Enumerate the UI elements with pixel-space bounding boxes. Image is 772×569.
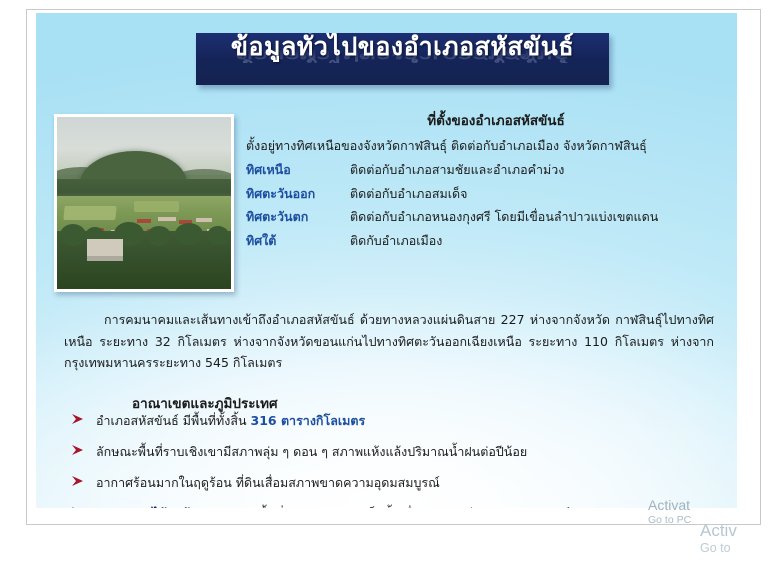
list-item-text: การเกษตรได้ผลน้อยแต่สำหรับพื้นที่รอบบริเ… [96, 506, 623, 508]
direction-label: ทิศตะวันออก [246, 186, 350, 203]
bullet-highlight: 316 ตารางกิโลเมตร [251, 413, 366, 428]
list-item-text: อำเภอสหัสขันธ์ มีพื้นที่ทั้งสิ้น 316 ตาร… [96, 413, 365, 430]
direction-value: ติดกับอำเภอเมือง [350, 233, 442, 250]
direction-label: ทิศเหนือ [246, 162, 350, 179]
direction-row: ทิศเหนือ ติดต่อกับอำเภอสามชัยและอำเภอคำม… [246, 162, 728, 179]
direction-label: ทิศใต้ [246, 233, 350, 250]
direction-value: ติดต่อกับอำเภอสามชัยและอำเภอคำม่วง [350, 162, 564, 179]
arrow-right-icon [64, 507, 96, 508]
direction-value: ติดต่อกับอำเภอหนองกุงศรี โดยมีเขื่อนลำปา… [350, 209, 658, 226]
page-title-reflection: ข้อมูลทั่วไปของอำเภอสหัสขันธ์ [196, 47, 609, 63]
direction-label: ทิศตะวันตก [246, 209, 350, 226]
photo-building [87, 239, 123, 261]
list-item-text: อากาศร้อนมากในฤดูร้อน ที่ดินเสื่อมสภาพขา… [96, 475, 440, 492]
landscape-photo [54, 114, 234, 292]
slide-title-banner: ข้อมูลทั่วไปของอำเภอสหัสขันธ์ ข้อมูลทั่ว… [196, 33, 609, 85]
activate-windows-watermark-secondary: Activ Go to [700, 521, 737, 556]
arrow-right-icon [64, 445, 96, 455]
arrow-right-icon [64, 414, 96, 424]
location-heading: ที่ตั้งของอำเภอสหัสขันธ์ [246, 113, 728, 131]
list-item: อำเภอสหัสขันธ์ มีพื้นที่ทั้งสิ้น 316 ตาร… [64, 413, 724, 430]
arrow-right-icon [64, 476, 96, 486]
list-item: อากาศร้อนมากในฤดูร้อน ที่ดินเสื่อมสภาพขา… [64, 475, 724, 492]
list-item-text: ลักษณะพื้นที่ราบเชิงเขามีสภาพลุ่ม ๆ ดอน … [96, 444, 527, 461]
presentation-slide: ข้อมูลทั่วไปของอำเภอสหัสขันธ์ ข้อมูลทั่ว… [36, 13, 737, 508]
list-item: การเกษตรได้ผลน้อยแต่สำหรับพื้นที่รอบบริเ… [64, 506, 724, 508]
transport-paragraph: การคมนาคมและเส้นทางเข้าถึงอำเภอสหัสขันธ์… [64, 309, 714, 374]
location-intro: ตั้งอยู่ทางทิศเหนือของจังหวัดกาฬสินธุ์ ต… [246, 137, 728, 155]
watermark-subtitle: Go to [700, 541, 737, 556]
document-page: ข้อมูลทั่วไปของอำเภอสหัสขันธ์ ข้อมูลทั่ว… [0, 0, 772, 569]
bullet-pre: อากาศร้อนมากในฤดูร้อน ที่ดินเสื่อมสภาพขา… [96, 475, 440, 490]
bullet-pre: ลักษณะพื้นที่ราบเชิงเขามีสภาพลุ่ม ๆ ดอน … [96, 444, 527, 459]
direction-row: ทิศตะวันออก ติดต่อกับอำเภอสมเด็จ [246, 186, 728, 203]
direction-row: ทิศใต้ ติดกับอำเภอเมือง [246, 233, 728, 250]
bullet-highlight: การเกษตรได้ผลน้อย [96, 506, 205, 508]
location-section: ที่ตั้งของอำเภอสหัสขันธ์ ตั้งอยู่ทางทิศเ… [246, 113, 728, 257]
photo-foreground-trees [57, 231, 231, 289]
list-item: ลักษณะพื้นที่ราบเชิงเขามีสภาพลุ่ม ๆ ดอน … [64, 444, 724, 461]
bullet-post: แต่สำหรับพื้นที่รอบบริเวณอ่างเก็บน้ำเขื่… [205, 506, 624, 508]
bullet-pre: อำเภอสหัสขันธ์ มีพื้นที่ทั้งสิ้น [96, 413, 251, 428]
direction-value: ติดต่อกับอำเภอสมเด็จ [350, 186, 468, 203]
transport-line-1: การคมนาคมและเส้นทางเข้าถึงอำเภอสหัสขันธ์… [104, 312, 610, 327]
area-heading: อาณาเขตและภูมิประเทศ [132, 392, 278, 414]
direction-row: ทิศตะวันตก ติดต่อกับอำเภอหนองกุงศรี โดยม… [246, 209, 728, 226]
photo-canvas [57, 117, 231, 289]
photo-field-patch [134, 201, 179, 211]
area-bullet-list: อำเภอสหัสขันธ์ มีพื้นที่ทั้งสิ้น 316 ตาร… [64, 413, 724, 508]
